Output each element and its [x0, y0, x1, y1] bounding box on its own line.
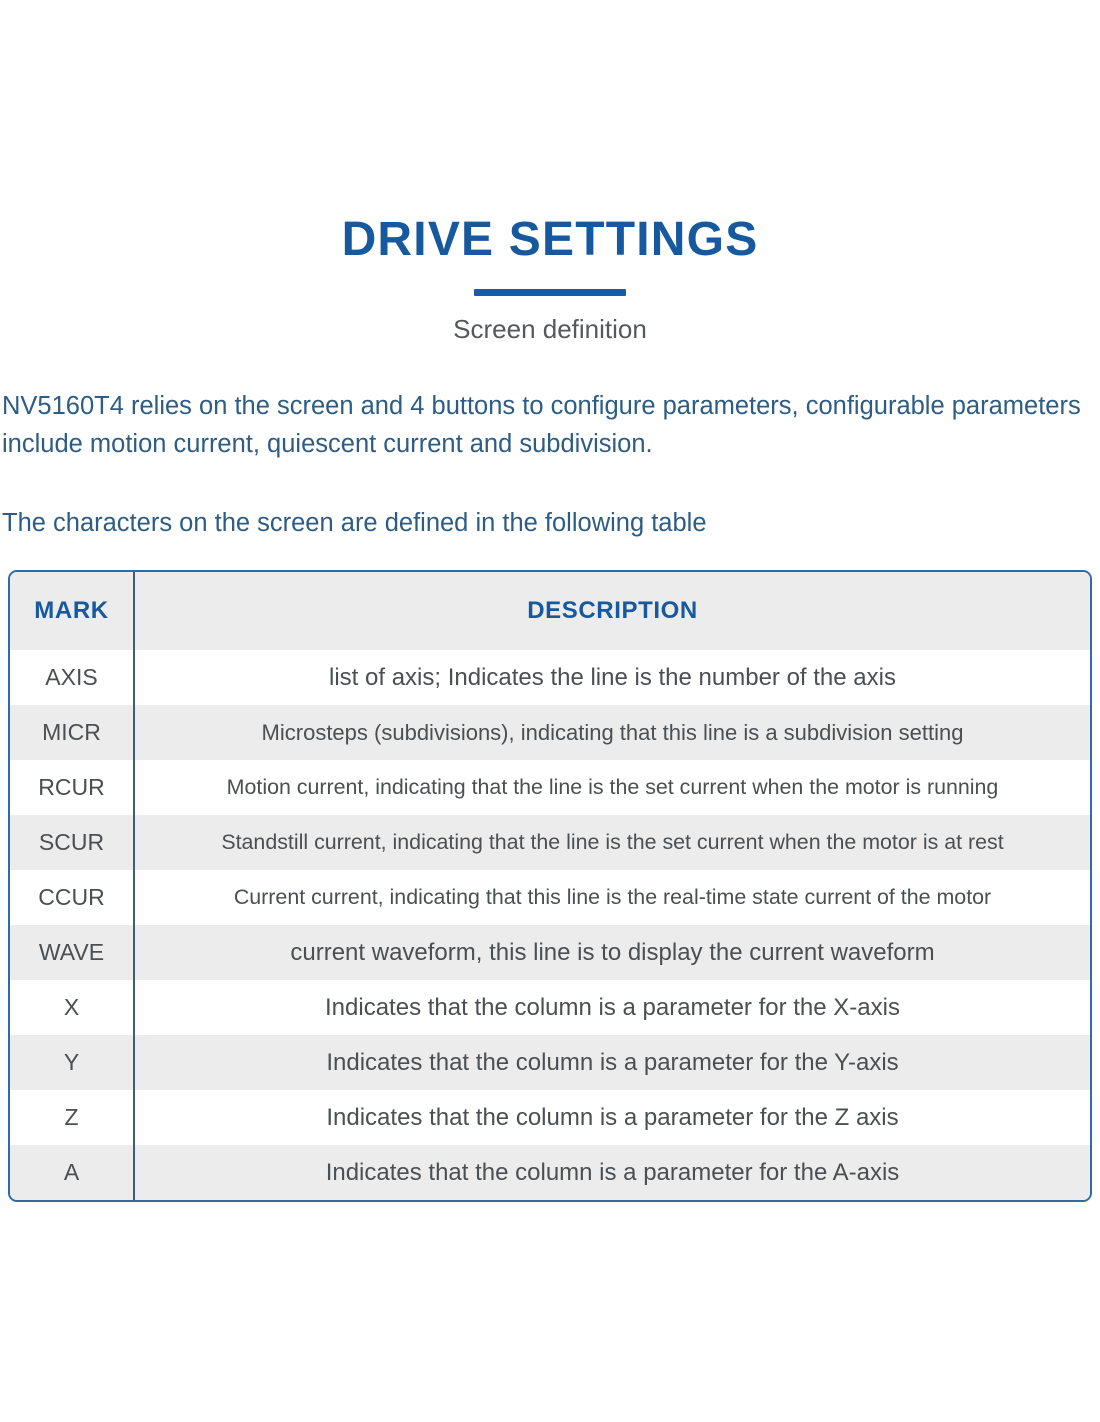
table-row: AXISlist of axis; Indicates the line is …: [10, 650, 1090, 705]
page-subtitle: Screen definition: [0, 314, 1100, 345]
page-header: DRIVE SETTINGS Screen definition: [0, 0, 1100, 345]
cell-description: current waveform, this line is to displa…: [134, 925, 1090, 980]
cell-mark: SCUR: [10, 815, 134, 870]
table-row: YIndicates that the column is a paramete…: [10, 1035, 1090, 1090]
cell-mark: X: [10, 980, 134, 1035]
cell-description: Current current, indicating that this li…: [134, 870, 1090, 925]
cell-mark: A: [10, 1145, 134, 1200]
cell-mark: AXIS: [10, 650, 134, 705]
cell-description: Motion current, indicating that the line…: [134, 760, 1090, 815]
cell-description: list of axis; Indicates the line is the …: [134, 650, 1090, 705]
cell-description: Indicates that the column is a parameter…: [134, 980, 1090, 1035]
table-row: CCURCurrent current, indicating that thi…: [10, 870, 1090, 925]
mark-definition-table: MARK DESCRIPTION AXISlist of axis; Indic…: [10, 572, 1090, 1200]
table-row: MICRMicrosteps (subdivisions), indicatin…: [10, 705, 1090, 760]
cell-mark: WAVE: [10, 925, 134, 980]
cell-description: Indicates that the column is a parameter…: [134, 1035, 1090, 1090]
page-title: DRIVE SETTINGS: [0, 214, 1100, 266]
cell-mark: RCUR: [10, 760, 134, 815]
document-page: DRIVE SETTINGS Screen definition NV5160T…: [0, 0, 1100, 1422]
cell-mark: Z: [10, 1090, 134, 1145]
intro-paragraph-1: NV5160T4 relies on the screen and 4 butt…: [2, 388, 1094, 463]
table-row: RCURMotion current, indicating that the …: [10, 760, 1090, 815]
cell-mark: Y: [10, 1035, 134, 1090]
table-row: XIndicates that the column is a paramete…: [10, 980, 1090, 1035]
cell-mark: CCUR: [10, 870, 134, 925]
table-row: WAVEcurrent waveform, this line is to di…: [10, 925, 1090, 980]
column-header-description: DESCRIPTION: [134, 572, 1090, 650]
cell-description: Indicates that the column is a parameter…: [134, 1145, 1090, 1200]
table-row: AIndicates that the column is a paramete…: [10, 1145, 1090, 1200]
intro-paragraph-2: The characters on the screen are defined…: [2, 505, 1094, 542]
column-header-mark: MARK: [10, 572, 134, 650]
table-row: ZIndicates that the column is a paramete…: [10, 1090, 1090, 1145]
cell-description: Indicates that the column is a parameter…: [134, 1090, 1090, 1145]
table-row: SCURStandstill current, indicating that …: [10, 815, 1090, 870]
title-underline-rule: [474, 289, 626, 296]
table-header-row: MARK DESCRIPTION: [10, 572, 1090, 650]
cell-mark: MICR: [10, 705, 134, 760]
cell-description: Standstill current, indicating that the …: [134, 815, 1090, 870]
mark-definition-table-container: MARK DESCRIPTION AXISlist of axis; Indic…: [8, 570, 1092, 1202]
cell-description: Microsteps (subdivisions), indicating th…: [134, 705, 1090, 760]
table-head: MARK DESCRIPTION: [10, 572, 1090, 650]
table-body: AXISlist of axis; Indicates the line is …: [10, 650, 1090, 1200]
intro-section: NV5160T4 relies on the screen and 4 butt…: [0, 388, 1100, 542]
